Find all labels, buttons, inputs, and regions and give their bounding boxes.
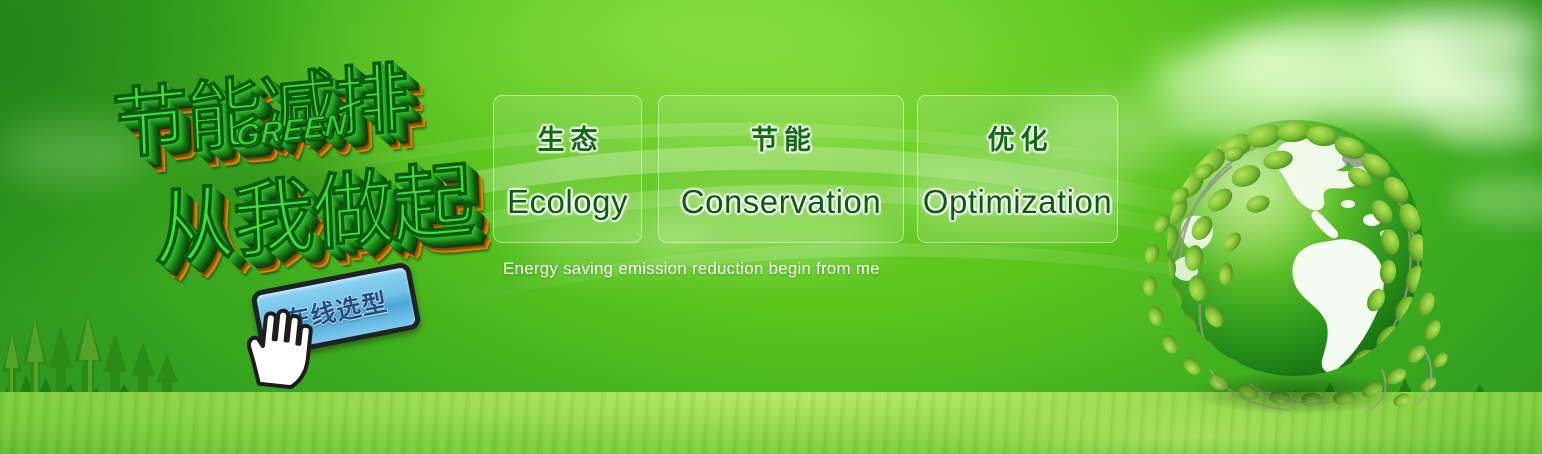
feature-card-cn-label: 节能	[745, 118, 817, 157]
globe-shadow	[1162, 366, 1432, 420]
feature-card-en-label: Optimization	[923, 183, 1112, 221]
feature-card-optimization[interactable]: 优化 Optimization	[917, 95, 1118, 243]
feature-card-ecology[interactable]: 生态 Ecology	[493, 95, 642, 243]
feature-card-conservation[interactable]: 节能 Conservation	[658, 95, 904, 243]
feature-card-en-label: Conservation	[681, 183, 881, 221]
feature-card-cn-label: 优化	[982, 118, 1054, 157]
banner-tagline: Energy saving emission reduction begin f…	[503, 259, 880, 279]
green-leaf-globe-icon	[1140, 108, 1450, 423]
feature-card-en-label: Ecology	[507, 183, 628, 221]
feature-card-cn-label: 生态	[532, 118, 604, 157]
eco-banner: 节能减排 从我做起 GREEN 在线选型 生态 Ecology 节能 Conse…	[0, 0, 1542, 454]
